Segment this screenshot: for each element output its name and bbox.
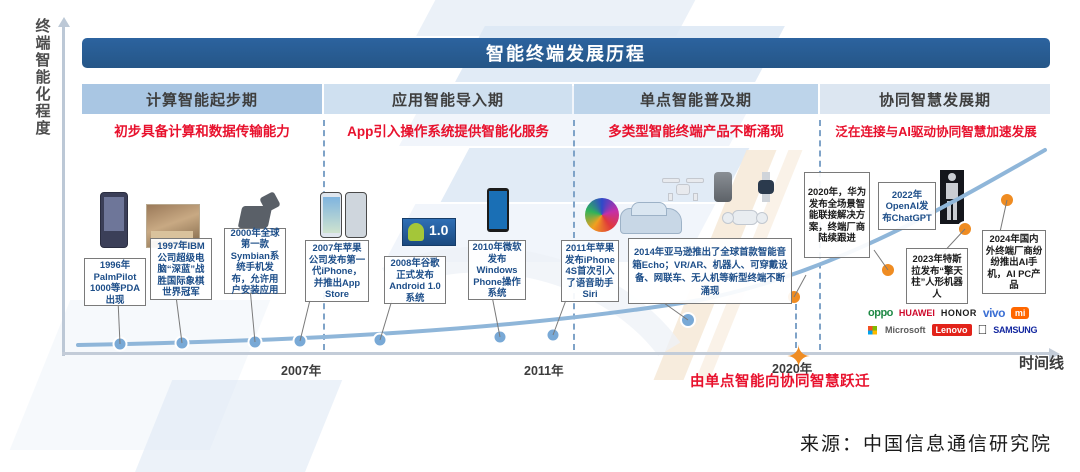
humanoid-robot-image [940, 170, 964, 224]
callout-2022[interactable]: 2022年OpenAI发布ChatGPT [878, 182, 936, 230]
brand-logo-row-1: oppo HUAWEI HONOR vivo mi [868, 306, 1054, 320]
callout-2023[interactable]: 2023年特斯拉发布“擎天柱”人形机器人 [906, 248, 968, 304]
oppo-logo: oppo [868, 307, 893, 319]
chart-title-bar: 智能终端发展历程 [82, 38, 1050, 68]
lenovo-logo: Lenovo [932, 324, 972, 336]
callout-1996[interactable]: 1996年PalmPilot 1000等PDA出现 [84, 258, 146, 306]
y-axis-char: 化 [30, 86, 56, 103]
brand-logo-row-2: Microsoft Lenovo  SAMSUNG [868, 323, 1054, 337]
timeline-axis [62, 352, 1050, 355]
y-axis-char: 程 [30, 103, 56, 120]
drone-image [662, 176, 702, 198]
phase-subtitle-1: 初步具备计算和数据传输能力 [82, 120, 322, 140]
callout-2024[interactable]: 2024年国内外终端厂商纷纷推出AI手机，AI PC产品 [982, 230, 1046, 294]
phase-subtitle-3: 多类型智能终端产品不断涌现 [574, 120, 818, 140]
callout-2008[interactable]: 2008年谷歌正式发布Android 1.0系统 [384, 256, 446, 304]
callout-2014[interactable]: 2014年亚马逊推出了全球首款智能音箱Echo；VR/AR、机器人、可穿戴设备、… [628, 238, 792, 304]
callout-2007[interactable]: 2007年苹果公司发布第一代iPhone，并推出App Store [305, 240, 369, 302]
phase-divider-2 [573, 120, 575, 350]
phase-subtitle-2: App引入操作系统提供智能化服务 [324, 120, 572, 140]
callout-2020[interactable]: 2020年，华为发布全场景智能联接解决方案，终端厂商陆续跟进 [804, 172, 870, 258]
tick-2007: 2007年 [281, 360, 321, 379]
phase-header-row: 计算智能起步期 应用智能导入期 单点智能普及期 协同智慧发展期 初步具备计算和数… [82, 84, 1050, 86]
apple-logo:  [978, 324, 988, 336]
callout-1997[interactable]: 1997年IBM公司超级电脑“深蓝”战胜国际象棋世界冠军 [150, 238, 212, 300]
android-logo-image: 1.0 [402, 218, 456, 246]
x-axis-label: 时间线 [1019, 352, 1064, 373]
smart-speaker-image [714, 172, 732, 202]
huawei-logo: HUAWEI [899, 307, 935, 319]
callout-2011[interactable]: 2011年苹果发布iPhone 4S首次引入了语音助手Siri [561, 240, 619, 302]
phase-subtitle-4: 泛在连接与AI驱动协同智慧加速发展 [820, 120, 1052, 140]
watermark-chevron [10, 300, 271, 450]
y-axis-char: 度 [30, 120, 56, 137]
y-axis-label: 终 端 智 能 化 程 度 [30, 18, 56, 137]
symbian-phone-image [236, 196, 282, 230]
windows-phone-image [487, 188, 509, 232]
tick-2011: 2011年 [524, 360, 564, 379]
xiaomi-logo: mi [1011, 307, 1030, 319]
y-axis-char: 智 [30, 52, 56, 69]
source-text: 来源：中国信息通信研究院 [800, 429, 1052, 456]
y-axis-char: 终 [30, 18, 56, 35]
timeline-jump-note: 由单点智能向协同智慧跃迁 [690, 370, 870, 391]
callout-2000[interactable]: 2000年全球第一款Symbian系统手机发布，允许用户安装应用 [224, 228, 286, 294]
samsung-logo: SAMSUNG [993, 324, 1037, 336]
watermark-chevron [416, 0, 704, 36]
siri-icon [585, 198, 619, 232]
callout-2010[interactable]: 2010年微软发布Windows Phone操作系统 [468, 240, 526, 300]
pda-image [100, 192, 128, 248]
y-axis-char: 端 [30, 35, 56, 52]
watermark-chevron [128, 380, 342, 472]
y-axis-char: 能 [30, 69, 56, 86]
iphone-image [320, 192, 342, 238]
phase-header-3: 单点智能普及期 [574, 84, 818, 114]
smartwatch-image [756, 172, 776, 202]
brand-logo-group: oppo HUAWEI HONOR vivo mi Microsoft Leno… [868, 306, 1054, 340]
phase-header-2: 应用智能导入期 [324, 84, 572, 114]
vr-headset-image [722, 208, 766, 228]
vivo-logo: vivo [983, 307, 1005, 319]
honor-logo: HONOR [941, 307, 977, 319]
iphone-back-image [345, 192, 367, 238]
phase-header-4: 协同智慧发展期 [820, 84, 1050, 114]
phase-header-1: 计算智能起步期 [82, 84, 322, 114]
connected-car-image [620, 208, 682, 234]
y-axis-arrow [62, 26, 65, 356]
microsoft-logo: Microsoft [885, 324, 926, 336]
microsoft-squares-icon [868, 326, 877, 335]
